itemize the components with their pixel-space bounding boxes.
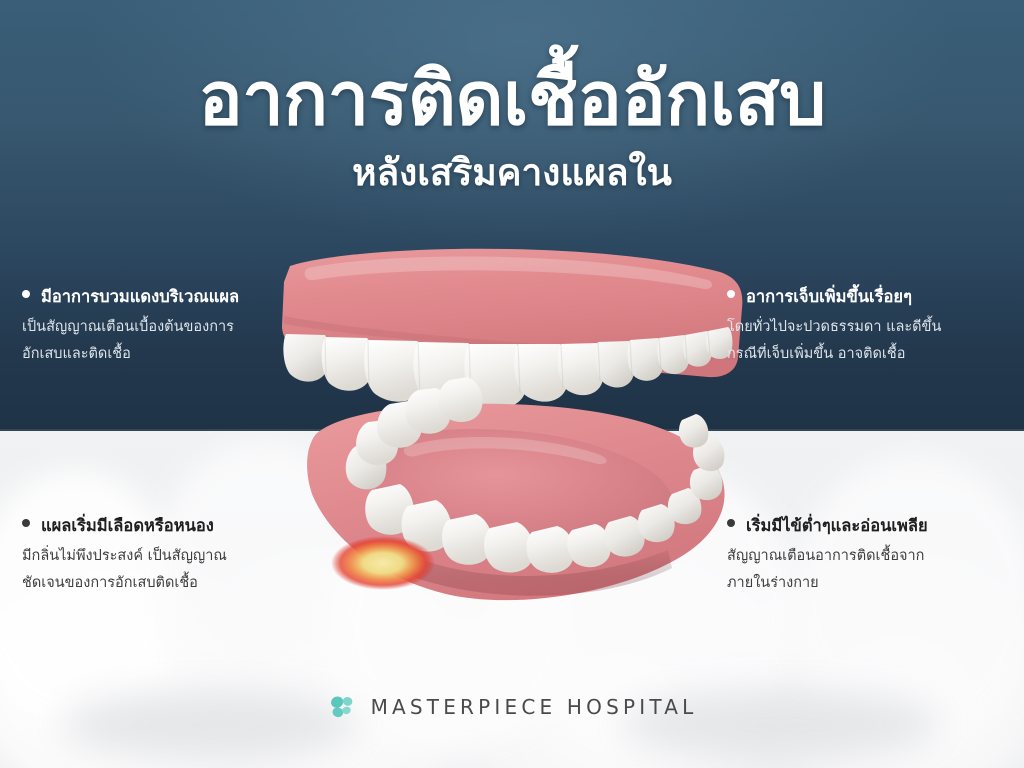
point-line-1: เป็นสัญญาณเตือนเบื้องต้นของการ [22,314,322,341]
point-line-2: กรณีที่เจ็บเพิ่มขึ้น อาจติดเชื้อ [727,341,1019,368]
upper-jaw [282,249,742,408]
point-blood-or-pus: แผลเริ่มมีเลือดหรือหนอง มีกลิ่นไม่พึงประ… [22,515,322,596]
dental-jaw-model [268,238,768,658]
butterfly-icon [327,692,357,722]
point-low-fever-fatigue: เริ่มมีไข้ต่ำๆและอ่อนเพลีย สัญญาณเตือนอา… [727,515,1019,596]
point-line-1: โดยทั่วไปจะปวดธรรมดา และดีขึ้น [727,314,1019,341]
bullet-dot-icon [727,519,735,527]
point-heading: อาการเจ็บเพิ่มขึ้นเรื่อยๆ [746,286,912,308]
page-subtitle: หลังเสริมคางแผลใน [0,143,1024,202]
point-line-1: มีกลิ่นไม่พึงประสงค์ เป็นสัญญาณ [22,543,322,570]
bullet-dot-icon [22,290,30,298]
bullet-dot-icon [22,519,30,527]
point-heading-row: แผลเริ่มมีเลือดหรือหนอง [22,515,322,537]
inflamed-lesion-spot [331,536,435,590]
point-swelling-redness: มีอาการบวมแดงบริเวณแผล เป็นสัญญาณเตือนเบ… [22,286,322,367]
page-title: อาการติดเชื้ออักเสบ [0,62,1024,137]
point-heading-row: อาการเจ็บเพิ่มขึ้นเรื่อยๆ [727,286,1019,308]
point-increasing-pain: อาการเจ็บเพิ่มขึ้นเรื่อยๆ โดยทั่วไปจะปวด… [727,286,1019,367]
point-heading-row: เริ่มมีไข้ต่ำๆและอ่อนเพลีย [727,515,1019,537]
infographic-poster: อาการติดเชื้ออักเสบ หลังเสริมคางแผลใน มี… [0,0,1024,768]
bullet-dot-icon [727,290,735,298]
title-block: อาการติดเชื้ออักเสบ หลังเสริมคางแผลใน [0,62,1024,202]
point-line-1: สัญญาณเตือนอาการติดเชื้อจาก [727,543,1019,570]
point-heading: แผลเริ่มมีเลือดหรือหนอง [41,515,214,537]
point-heading: มีอาการบวมแดงบริเวณแผล [41,286,239,308]
brand-name: MASTERPIECE HOSPITAL [371,695,698,719]
brand-logo: MASTERPIECE HOSPITAL [0,692,1024,722]
point-line-2: ชัดเจนของการอักเสบติดเชื้อ [22,570,322,597]
point-heading: เริ่มมีไข้ต่ำๆและอ่อนเพลีย [746,515,928,537]
point-line-2: อักเสบและติดเชื้อ [22,341,322,368]
point-heading-row: มีอาการบวมแดงบริเวณแผล [22,286,322,308]
lower-jaw [307,377,724,600]
point-line-2: ภายในร่างกาย [727,570,1019,597]
